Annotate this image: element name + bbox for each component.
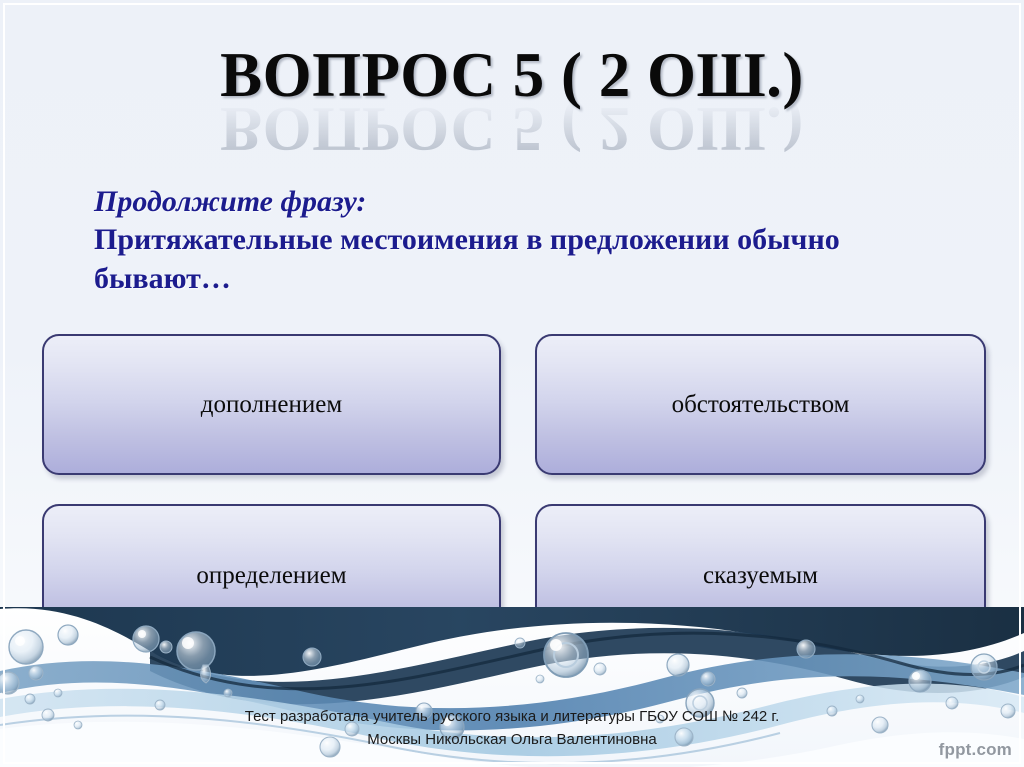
question-prompt-body: Притяжательные местоимения в предложении… [94, 221, 944, 298]
answer-option-label: дополнением [201, 392, 342, 417]
answer-option-skazuemym[interactable]: сказуемым [535, 504, 986, 646]
answer-options-grid: дополнением обстоятельством определением… [42, 334, 986, 646]
answer-option-label: определением [196, 563, 346, 588]
page-title: ВОПРОС 5 ( 2 ОШ.) [220, 44, 804, 107]
author-credit: Тест разработала учитель русского языка … [0, 706, 1024, 751]
answer-option-opredeleniem[interactable]: определением [42, 504, 501, 646]
author-credit-line-2: Москвы Никольская Ольга Валентиновна [0, 729, 1024, 752]
fppt-watermark: fppt.com [939, 740, 1012, 760]
question-prompt-lead: Продолжите фразу: [94, 183, 944, 221]
question-prompt: Продолжите фразу: Притяжательные местоим… [94, 183, 944, 298]
answer-option-dopolneniem[interactable]: дополнением [42, 334, 501, 475]
author-credit-line-1: Тест разработала учитель русского языка … [0, 706, 1024, 729]
answer-option-obstoyatelstvom[interactable]: обстоятельством [535, 334, 986, 475]
answer-option-label: сказуемым [703, 563, 818, 588]
presentation-slide: ВОПРОС 5 ( 2 ОШ.) ВОПРОС 5 ( 2 ОШ.) Прод… [0, 0, 1024, 767]
slide-title-block: ВОПРОС 5 ( 2 ОШ.) ВОПРОС 5 ( 2 ОШ.) [0, 44, 1024, 160]
answer-option-label: обстоятельством [672, 392, 850, 417]
